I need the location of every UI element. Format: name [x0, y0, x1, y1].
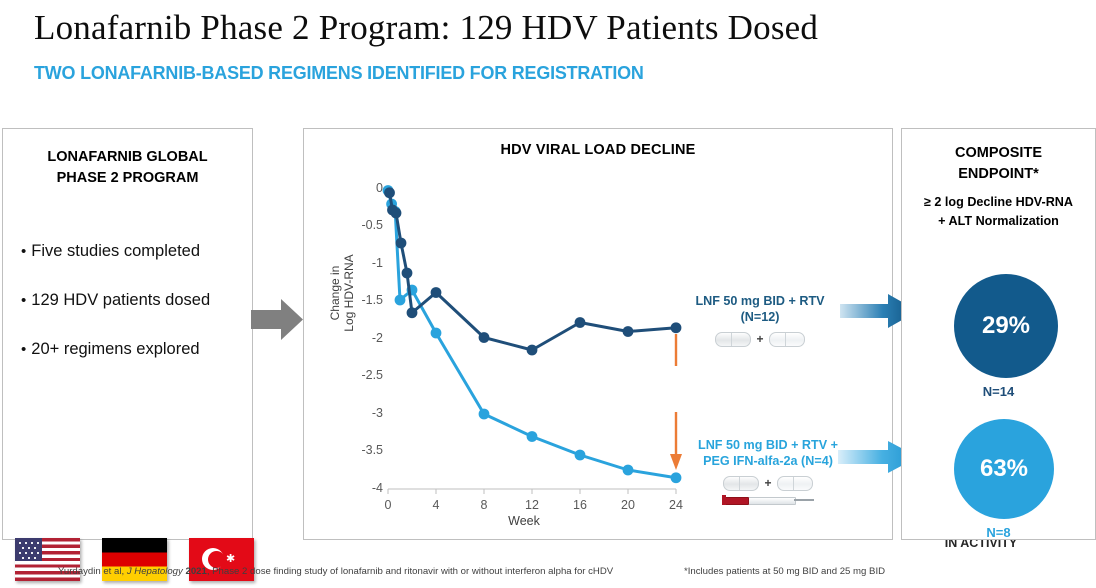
- result-n-1: N=14: [902, 384, 1095, 399]
- right-panel-subtext: ≥ 2 log Decline HDV-RNA + ALT Normalizat…: [902, 193, 1095, 231]
- syringe-needle: [794, 499, 814, 500]
- slide: Lonafarnib Phase 2 Program: 129 HDV Pati…: [0, 0, 1096, 588]
- regimen-1-line2: (N=12): [690, 309, 830, 325]
- regimen-1-legend: LNF 50 mg BID + RTV (N=12) +: [690, 293, 830, 347]
- plus-icon: +: [756, 331, 763, 347]
- list-item: •20+ regimens explored: [11, 339, 252, 360]
- page-subtitle: TWO LONAFARNIB-BASED REGIMENS IDENTIFIED…: [34, 62, 1004, 84]
- page-title: Lonafarnib Phase 2 Program: 129 HDV Pati…: [34, 8, 1034, 48]
- result-circle-1: 29%: [954, 274, 1058, 378]
- capsule-icon: [777, 476, 813, 491]
- footnote-asterisk: *Includes patients at 50 mg BID and 25 m…: [684, 566, 885, 577]
- regimen-2-legend: LNF 50 mg BID + RTV + PEG IFN-alfa-2a (N…: [688, 437, 848, 505]
- left-panel-heading-line1: LONAFARNIB GLOBAL: [3, 147, 252, 168]
- footnote-journal: J Hepatology: [127, 566, 186, 577]
- right-panel-heading: COMPOSITE ENDPOINT*: [902, 143, 1095, 185]
- syringe-icon: [722, 495, 814, 505]
- syringe-barrel: [744, 497, 796, 505]
- result-circle-2: 63%: [954, 419, 1054, 519]
- right-panel-heading-line2: ENDPOINT*: [902, 164, 1095, 185]
- series-lnf-rtv-pegifn: [383, 185, 682, 483]
- bullet-dot-icon: •: [21, 292, 26, 309]
- right-panel-sub-line1: ≥ 2 log Decline HDV-RNA: [902, 193, 1095, 212]
- regimen-2-line2: PEG IFN-alfa-2a (N=4): [688, 453, 848, 469]
- left-panel: LONAFARNIB GLOBAL PHASE 2 PROGRAM •Five …: [2, 128, 253, 540]
- list-item: •129 HDV patients dosed: [11, 290, 252, 311]
- footnote-author: Yurdaydin et al,: [58, 566, 127, 577]
- regimen-1-line1: LNF 50 mg BID + RTV: [690, 293, 830, 309]
- annotation-connector: [670, 334, 682, 470]
- result-n-2: N=8: [902, 525, 1095, 540]
- footnote-citation: Yurdaydin et al, J Hepatology 2021, Phas…: [58, 566, 613, 577]
- regimen-2-line1: LNF 50 mg BID + RTV +: [688, 437, 848, 453]
- tablet-icon: [723, 476, 759, 491]
- regimen-1-icons: +: [690, 331, 830, 347]
- right-panel-sub-line2: + ALT Normalization: [902, 212, 1095, 231]
- regimen-2-icons: +: [688, 475, 848, 491]
- right-panel-heading-line1: COMPOSITE: [902, 143, 1095, 164]
- us-flag-canton: [15, 538, 42, 561]
- result-percent-2: 63%: [980, 455, 1028, 483]
- plus-icon: +: [764, 475, 771, 491]
- capsule-icon: [769, 332, 805, 347]
- list-item-label: 129 HDV patients dosed: [31, 291, 210, 309]
- bullet-dot-icon: •: [21, 243, 26, 260]
- left-panel-heading-line2: PHASE 2 PROGRAM: [3, 168, 252, 189]
- syringe-plunger: [722, 495, 726, 505]
- gray-arrow-icon: [251, 296, 303, 343]
- right-panel: COMPOSITE ENDPOINT* ≥ 2 log Decline HDV-…: [901, 128, 1096, 540]
- list-item-label: 20+ regimens explored: [31, 340, 199, 358]
- left-panel-bullet-list: •Five studies completed •129 HDV patient…: [11, 241, 252, 360]
- left-panel-heading: LONAFARNIB GLOBAL PHASE 2 PROGRAM: [3, 147, 252, 189]
- list-item: •Five studies completed: [11, 241, 252, 262]
- syringe-liquid: [725, 497, 749, 505]
- series-lnf-rtv: [384, 187, 681, 355]
- x-axis-ticks: [388, 489, 676, 494]
- star-icon: ✱: [226, 554, 235, 565]
- footnote-year: 2021: [185, 566, 206, 577]
- footnote-rest: , Phase 2 dose finding study of lonafarn…: [207, 566, 613, 577]
- bullet-dot-icon: •: [21, 341, 26, 358]
- list-item-label: Five studies completed: [31, 242, 200, 260]
- result-percent-1: 29%: [982, 312, 1030, 340]
- tablet-icon: [715, 332, 751, 347]
